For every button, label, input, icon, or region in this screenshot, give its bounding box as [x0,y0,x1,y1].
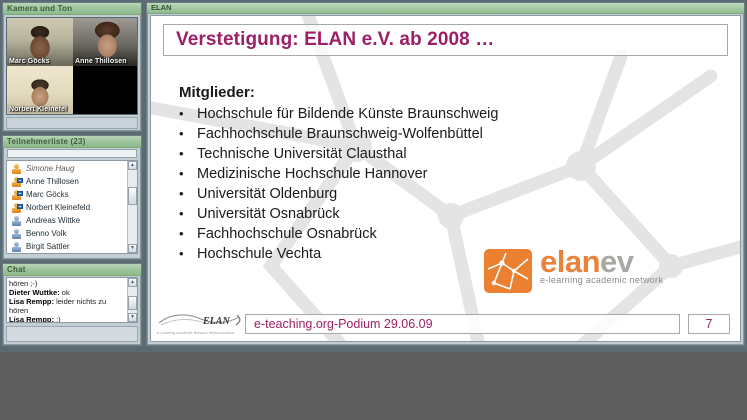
attendee-icon [11,242,22,252]
list-item[interactable]: Andreas Wittke [7,214,128,227]
bullet-item: • Fachhochschule Osnabrück [179,224,730,244]
participant-name: Marc Göcks [26,190,69,199]
list-item[interactable]: Benno Volk [7,227,128,240]
video-tile[interactable]: Anne Thillosen [73,18,138,66]
logo-tagline: e-learning academic network [540,275,663,285]
chat-author: Lisa Rempp: [9,315,54,323]
scrollbar-thumb[interactable] [128,296,137,310]
bullet-text: Fachhochschule Osnabrück [197,224,377,244]
footer-logo-tagline: e-Learning Academic Network Niedersachse… [157,331,243,335]
scroll-up-icon[interactable]: ▲ [128,278,137,287]
bullet-marker: • [179,224,185,244]
video-tile-label: Marc Göcks [9,58,50,65]
chat-text: ;) [54,315,61,323]
bullet-marker: • [179,104,185,124]
bullet-item: • Hochschule für Bildende Künste Braunsc… [179,104,730,124]
bullet-item: • Technische Universität Clausthal [179,144,730,164]
camera-panel-title: Kamera und Ton [3,3,141,15]
video-tile-label: Anne Thillosen [75,58,127,65]
chat-scrollbar[interactable]: ▲ ▼ [127,278,137,322]
list-item[interactable]: Anne Thillosen [7,175,128,188]
bullet-marker: • [179,164,185,184]
participant-name: Simone Haug [26,164,74,173]
participant-name: Anne Thillosen [26,177,79,186]
chat-message: Dieter Wuttke: ok [9,288,126,297]
chat-author: Dieter Wuttke: [9,288,60,297]
attendee-icon [11,216,22,226]
presentation-panel-title: ELAN [147,3,744,14]
slide-page-number: 7 [688,314,730,334]
webconference-app: Kamera und Ton Marc Göcks Anne Thillosen… [0,0,747,352]
slide-bullet-list: • Hochschule für Bildende Künste Braunsc… [179,104,730,264]
participant-name: Benno Volk [26,229,66,238]
chat-text: hören ;-) [9,279,37,288]
participant-name: Birgit Sattler [26,242,70,251]
bullet-item: • Universität Osnabrück [179,204,730,224]
footer-text: e-teaching.org-Podium 29.06.09 [246,315,679,333]
chat-author: Lisa Rempp: [9,297,54,306]
scrollbar-thumb[interactable] [128,187,137,205]
elan-network-mark-icon [484,249,532,293]
moderator-webcam-icon [11,177,22,187]
logo-word-secondary: ev [600,244,633,279]
video-tile[interactable]: Norbert Kleinefel [7,66,73,114]
footer-elan-logo: ELAN e-Learning Academic Network Nieders… [157,311,243,335]
elan-ev-wordmark: elanev e-learning academic network [540,245,663,285]
list-item[interactable]: Norbert Kleinefeld [7,201,128,214]
chat-message: Lisa Rempp: leider nichts zu hören [9,297,126,315]
camera-video-grid[interactable]: Marc Göcks Anne Thillosen Norbert Kleine… [6,17,138,115]
bullet-marker: • [179,124,185,144]
chat-message: hören ;-) [9,279,126,288]
presentation-panel: ELAN [146,2,745,346]
bullet-item: • Universität Oldenburg [179,184,730,204]
list-item[interactable]: Birgit Sattler [7,240,128,253]
chat-message: Lisa Rempp: ;) [9,315,126,323]
scroll-down-icon[interactable]: ▼ [128,313,137,322]
participants-panel: Teilnehmerliste (23) Simone Haug Anne Th… [2,135,142,260]
bullet-text: Medizinische Hochschule Hannover [197,164,428,184]
participant-name: Andreas Wittke [26,216,80,225]
video-tile-empty[interactable] [73,66,138,114]
scroll-down-icon[interactable]: ▼ [128,244,137,253]
bullet-text: Technische Universität Clausthal [197,144,407,164]
bullet-text: Fachhochschule Braunschweig-Wolfenbüttel [197,124,483,144]
bullet-text: Hochschule Vechta [197,244,321,264]
participants-list[interactable]: Simone Haug Anne Thillosen Marc Göcks No… [6,160,138,254]
bullet-marker: • [179,184,185,204]
slide-title: Verstetigung: ELAN e.V. ab 2008 … [164,25,727,55]
list-item[interactable]: Marc Göcks [7,188,128,201]
elan-ev-word: elanev [540,245,663,279]
list-item[interactable]: Simone Haug [7,162,128,175]
bullet-text: Universität Osnabrück [197,204,340,224]
slide-subtitle: Mitglieder: [179,84,255,101]
camera-toolbar[interactable] [6,117,138,129]
scroll-up-icon[interactable]: ▲ [128,161,137,170]
moderator-icon [11,164,22,174]
bullet-text: Hochschule für Bildende Künste Braunschw… [197,104,498,124]
chat-messages[interactable]: hören ;-) Dieter Wuttke: ok Lisa Rempp: … [6,277,138,323]
moderator-webcam-icon [11,203,22,213]
moderator-webcam-icon [11,190,22,200]
svg-text:ELAN: ELAN [202,316,230,327]
attendee-icon [11,229,22,239]
chat-text: ok [60,288,70,297]
logo-word-primary: elan [540,244,600,279]
participants-panel-title: Teilnehmerliste (23) [3,136,141,148]
chat-message-list: hören ;-) Dieter Wuttke: ok Lisa Rempp: … [7,278,128,322]
bullet-marker: • [179,144,185,164]
slide-canvas[interactable]: Verstetigung: ELAN e.V. ab 2008 … Mitgli… [150,15,741,342]
video-tile-label: Norbert Kleinefel [9,106,67,113]
bullet-marker: • [179,244,185,264]
bullet-item: • Fachhochschule Braunschweig-Wolfenbütt… [179,124,730,144]
bullet-marker: • [179,204,185,224]
footer-text-box: e-teaching.org-Podium 29.06.09 [245,314,680,334]
chat-input-field[interactable] [6,326,138,342]
slide-title-box: Verstetigung: ELAN e.V. ab 2008 … [163,24,728,56]
participant-name: Norbert Kleinefeld [26,203,90,212]
bullet-text: Universität Oldenburg [197,184,337,204]
bullet-item: • Medizinische Hochschule Hannover [179,164,730,184]
camera-and-audio-panel: Kamera und Ton Marc Göcks Anne Thillosen… [2,2,142,132]
participants-rows: Simone Haug Anne Thillosen Marc Göcks No… [7,161,128,253]
video-tile[interactable]: Marc Göcks [7,18,73,66]
chat-panel-title: Chat [3,264,141,276]
participants-search-input[interactable] [7,149,137,158]
participants-scrollbar[interactable]: ▲ ▼ [127,161,137,253]
elan-ev-logo: elanev e-learning academic network [484,247,684,299]
chat-panel: Chat hören ;-) Dieter Wuttke: ok Lisa Re… [2,263,142,346]
